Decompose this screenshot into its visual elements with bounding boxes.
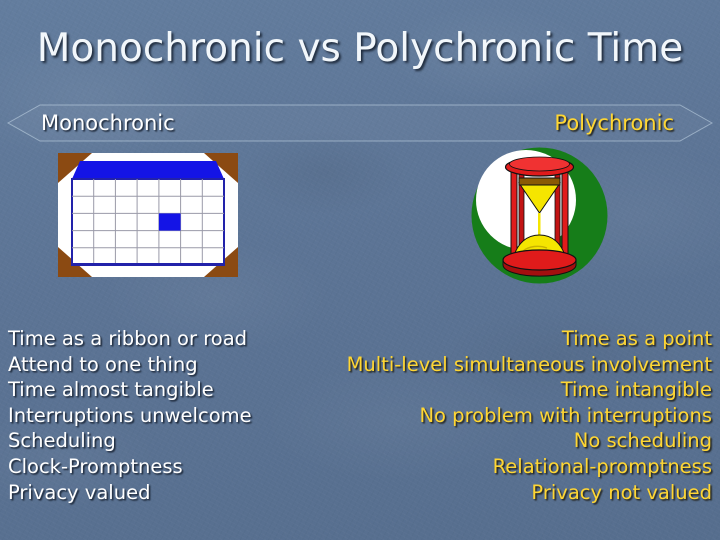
list-item: No scheduling <box>292 428 712 454</box>
list-item: Multi-level simultaneous involvement <box>292 352 712 378</box>
list-item: Privacy valued <box>8 480 338 506</box>
calendar-highlighted-day <box>159 213 181 230</box>
hourglass-icon <box>471 147 608 284</box>
list-item: Clock-Promptness <box>8 454 338 480</box>
hourglass-sand-top-band <box>519 178 560 185</box>
list-polychronic: Time as a point Multi-level simultaneous… <box>292 326 712 505</box>
list-item: Privacy not valued <box>292 480 712 506</box>
list-item: Attend to one thing <box>8 352 338 378</box>
heading-monochronic: Monochronic <box>41 110 175 136</box>
list-item: No problem with interruptions <box>292 403 712 429</box>
list-monochronic: Time as a ribbon or road Attend to one t… <box>8 326 338 505</box>
page-title: Monochronic vs Polychronic Time <box>0 26 720 72</box>
hourglass-top-cap-inner <box>510 157 570 171</box>
hourglass-base-cap <box>503 250 576 270</box>
list-item: Time almost tangible <box>8 377 338 403</box>
list-item: Interruptions unwelcome <box>8 403 338 429</box>
heading-polychronic: Polychronic <box>554 110 674 136</box>
calendar-header-bar <box>72 161 224 179</box>
calendar-bottom-rule <box>72 263 224 266</box>
calendar-icon <box>58 153 238 277</box>
list-item: Time as a ribbon or road <box>8 326 338 352</box>
slide-canvas: Monochronic vs Polychronic Time Monochro… <box>0 0 720 540</box>
list-item: Time intangible <box>292 377 712 403</box>
list-item: Relational-promptness <box>292 454 712 480</box>
list-item: Scheduling <box>8 428 338 454</box>
calendar-grid-area <box>72 179 224 265</box>
list-item: Time as a point <box>292 326 712 352</box>
